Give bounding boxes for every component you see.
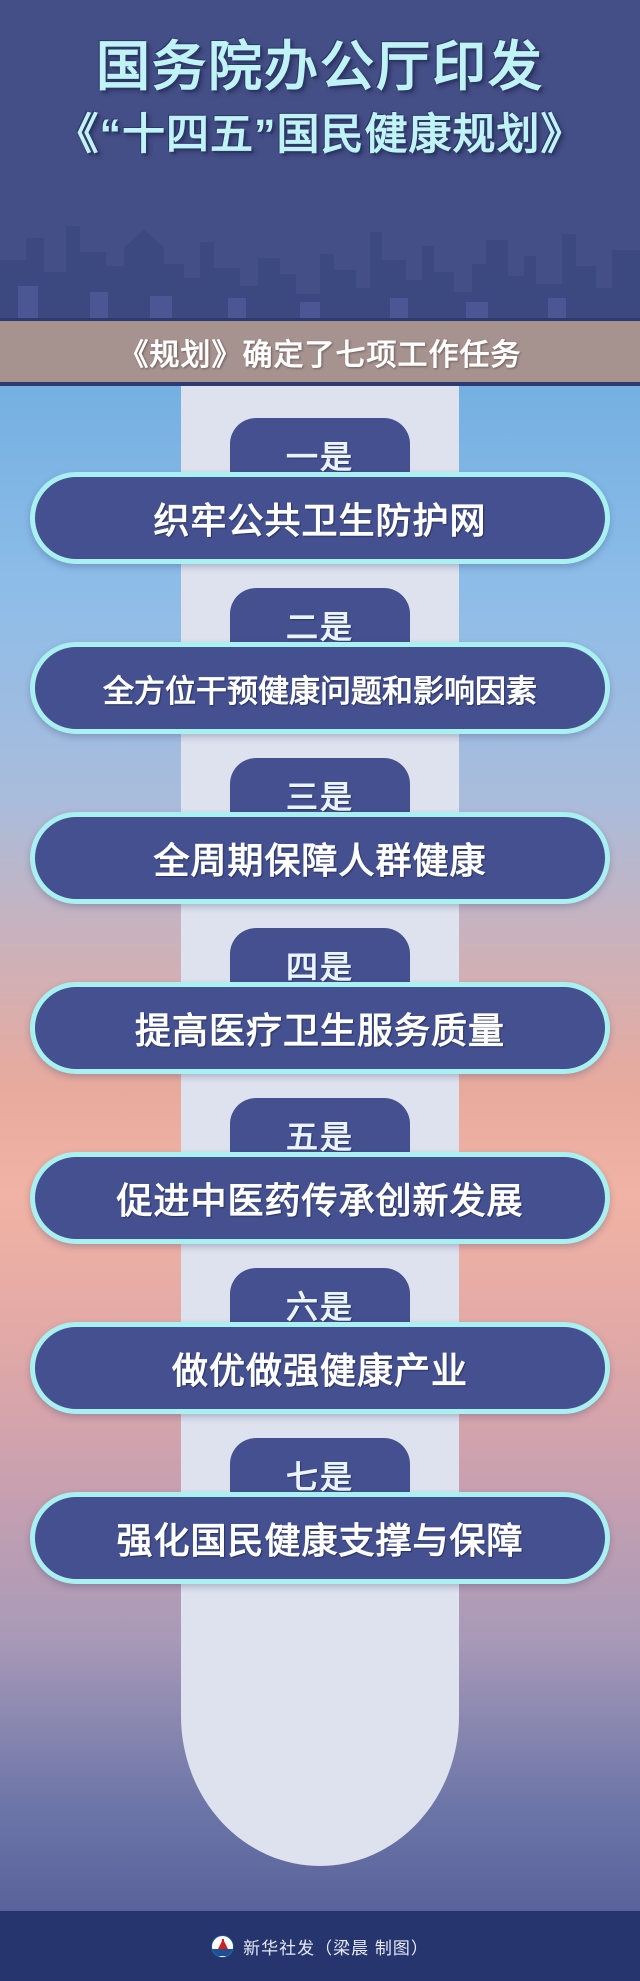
task-row: 二是全方位干预健康问题和影响因素 — [0, 574, 640, 744]
task-row: 四是提高医疗卫生服务质量 — [0, 914, 640, 1084]
task-pill[interactable]: 全方位干预健康问题和影响因素 — [30, 642, 610, 734]
task-label: 织牢公共卫生防护网 — [153, 492, 486, 544]
tasks-section: 一是织牢公共卫生防护网二是全方位干预健康问题和影响因素三是全周期保障人群健康四是… — [0, 386, 640, 1911]
task-label: 全方位干预健康问题和影响因素 — [103, 666, 537, 711]
poster-title-line2: 《“十四五”国民健康规划》 — [0, 110, 640, 162]
task-row: 七是强化国民健康支撑与保障 — [0, 1424, 640, 1594]
subtitle-bar: 《规划》确定了七项工作任务 — [0, 318, 640, 386]
task-pill[interactable]: 织牢公共卫生防护网 — [30, 472, 610, 564]
infographic-poster: 国务院办公厅印发 《“十四五”国民健康规划》 《规划》确定了七项工作任务 一是织… — [0, 0, 640, 1981]
task-pill[interactable]: 提高医疗卫生服务质量 — [30, 982, 610, 1074]
task-label: 做优做强健康产业 — [172, 1342, 468, 1394]
task-row: 三是全周期保障人群健康 — [0, 744, 640, 914]
task-label: 促进中医药传承创新发展 — [116, 1172, 523, 1224]
footer-credit-text: 新华社发（梁晨 制图） — [243, 1934, 429, 1959]
task-row: 一是织牢公共卫生防护网 — [0, 404, 640, 574]
task-row: 五是促进中医药传承创新发展 — [0, 1084, 640, 1254]
task-pill[interactable]: 全周期保障人群健康 — [30, 812, 610, 904]
header-section: 国务院办公厅印发 《“十四五”国民健康规划》 — [0, 0, 640, 318]
task-pill[interactable]: 强化国民健康支撑与保障 — [30, 1492, 610, 1584]
header-title-block: 国务院办公厅印发 《“十四五”国民健康规划》 — [0, 0, 640, 161]
subtitle-text: 《规划》确定了七项工作任务 — [119, 330, 522, 374]
poster-title-line1: 国务院办公厅印发 — [0, 36, 640, 100]
task-row: 六是做优做强健康产业 — [0, 1254, 640, 1424]
footer-bar: 新华社发（梁晨 制图） — [0, 1911, 640, 1981]
city-skyline-illustration — [0, 168, 640, 318]
task-label: 强化国民健康支撑与保障 — [116, 1512, 523, 1564]
task-label: 提高医疗卫生服务质量 — [135, 1002, 505, 1054]
task-list: 一是织牢公共卫生防护网二是全方位干预健康问题和影响因素三是全周期保障人群健康四是… — [0, 386, 640, 1594]
task-label: 全周期保障人群健康 — [153, 832, 486, 884]
task-pill[interactable]: 促进中医药传承创新发展 — [30, 1152, 610, 1244]
task-pill[interactable]: 做优做强健康产业 — [30, 1322, 610, 1414]
xinhua-logo-icon — [211, 1935, 234, 1958]
